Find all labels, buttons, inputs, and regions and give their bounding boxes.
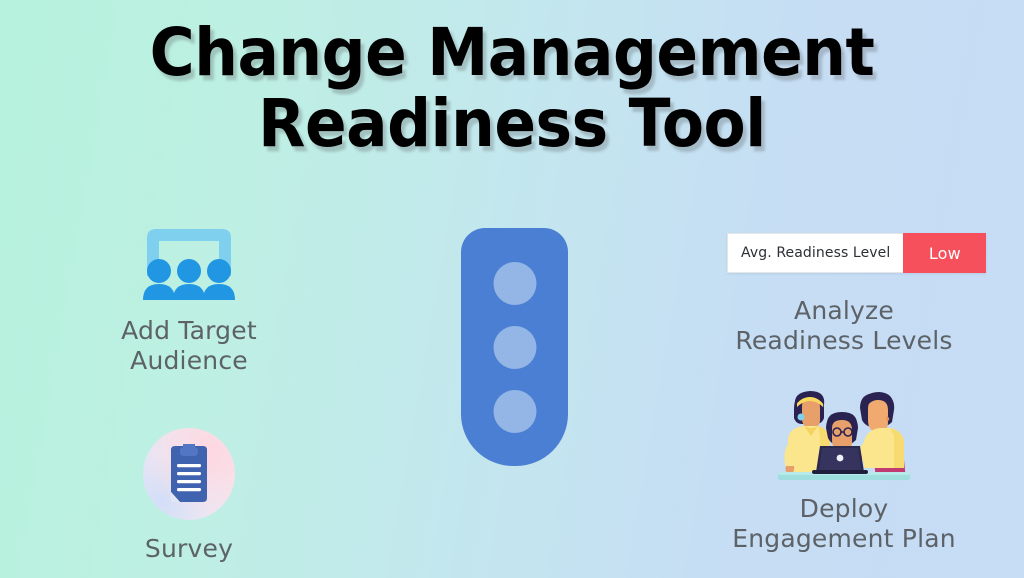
audience-caption-line-2: Audience (130, 346, 248, 375)
title-line-1: Change Management (36, 22, 988, 85)
traffic-light-icon (461, 228, 568, 466)
deploy-caption: Deploy Engagement Plan (713, 494, 975, 553)
feature-deploy-engagement-plan[interactable]: Deploy Engagement Plan (713, 384, 975, 553)
title-line-2: Readiness Tool (36, 93, 988, 156)
feature-add-target-audience[interactable]: Add Target Audience (96, 224, 282, 375)
deploy-caption-line-2: Engagement Plan (732, 524, 956, 553)
survey-icon-backdrop (143, 428, 235, 520)
group-people-icon (141, 224, 237, 302)
readiness-badge-label: Avg. Readiness Level (727, 233, 903, 273)
survey-caption: Survey (96, 534, 282, 564)
deploy-caption-line-1: Deploy (800, 494, 889, 523)
analyze-caption: Analyze Readiness Levels (713, 296, 975, 355)
traffic-light-dot-bottom (493, 390, 536, 433)
readiness-badge[interactable]: Avg. Readiness Level Low (727, 233, 986, 273)
infographic-slide: Change Management Readiness Tool Add Tar… (0, 0, 1024, 578)
audience-caption: Add Target Audience (96, 316, 282, 375)
page-title: Change Management Readiness Tool (0, 22, 1024, 155)
analyze-caption-line-2: Readiness Levels (735, 326, 952, 355)
audience-caption-line-1: Add Target (121, 316, 257, 345)
traffic-light-dot-top (493, 262, 536, 305)
analyze-caption-line-1: Analyze (794, 296, 894, 325)
feature-survey[interactable]: Survey (96, 428, 282, 564)
traffic-light-dot-middle (493, 326, 536, 369)
team-collaboration-illustration (764, 384, 924, 488)
readiness-badge-value: Low (903, 233, 986, 273)
clipboard-icon (163, 444, 215, 504)
